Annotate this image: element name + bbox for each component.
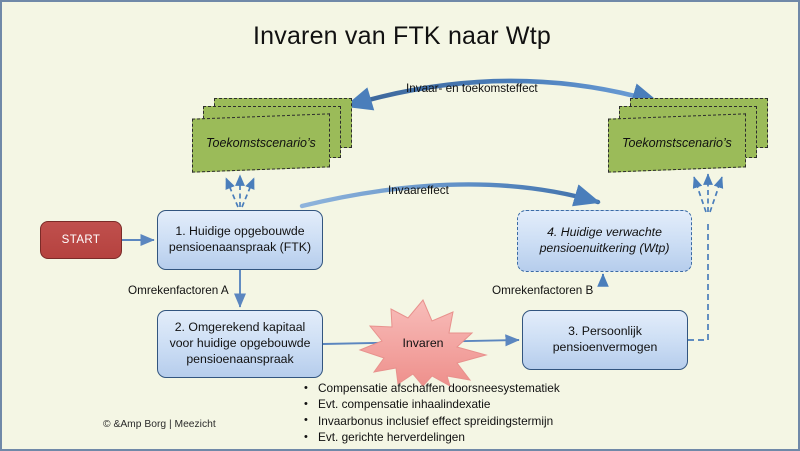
invaren-burst[interactable]: Invaren — [360, 300, 486, 386]
process-box-2-line2: voor huidige opgebouwde — [170, 336, 311, 350]
diagram-canvas: Invaren van FTK naar Wtp Toekomstscenari… — [0, 0, 800, 451]
page-title: Invaren van FTK naar Wtp — [2, 22, 800, 51]
footer-credit: © &Amp Borg | Meezicht — [103, 419, 216, 430]
label-omrekenfactoren-a: Omrekenfactoren A — [128, 284, 229, 297]
scenario-stack-right[interactable]: Toekomstscenario’s — [608, 98, 768, 170]
start-label: START — [62, 234, 101, 246]
process-box-2-line1: 2. Omgerekend kapitaal — [175, 320, 306, 334]
label-invaareffect: Invaareffect — [388, 184, 449, 197]
notes-bullet-list: Compensatie afschaffen doorsneesystemati… — [290, 380, 560, 446]
process-box-1[interactable]: 1. Huidige opgebouwde pensioenaanspraak … — [157, 210, 323, 270]
process-box-2-line3: pensioenaanspraak — [186, 352, 293, 366]
list-item: Invaarbonus inclusief effect spreidingst… — [304, 413, 560, 429]
fan-arrows-box1-to-scenarios — [226, 175, 254, 207]
process-box-3-line1: 3. Persoonlijk — [568, 324, 642, 338]
label-invaar-en-toekomsteffect: Invaar- en toekomsteffect — [406, 82, 538, 95]
list-item: Evt. compensatie inhaalindexatie — [304, 396, 560, 412]
process-box-1-line2: pensioenaanspraak (FTK) — [169, 240, 311, 254]
process-box-1-line1: 1. Huidige opgebouwde — [175, 224, 304, 238]
start-node[interactable]: START — [40, 221, 122, 259]
process-box-4-line2: pensioenuitkering (Wtp) — [540, 241, 670, 255]
scenario-sheet-front: Toekomstscenario’s — [192, 113, 330, 172]
process-box-4-label: 4. Huidige verwachte pensioenuitkering (… — [540, 225, 670, 257]
process-box-3-label: 3. Persoonlijk pensioenvermogen — [553, 324, 658, 356]
list-item: Compensatie afschaffen doorsneesystemati… — [304, 380, 560, 396]
invaren-burst-label: Invaren — [360, 336, 486, 350]
process-box-2[interactable]: 2. Omgerekend kapitaal voor huidige opge… — [157, 310, 323, 378]
connector-invaareffect — [302, 184, 598, 206]
scenario-label-right: Toekomstscenario’s — [622, 136, 732, 150]
process-box-4[interactable]: 4. Huidige verwachte pensioenuitkering (… — [517, 210, 692, 272]
scenario-label-left: Toekomstscenario’s — [206, 136, 316, 150]
process-box-4-line1: 4. Huidige verwachte — [547, 225, 662, 239]
scenario-sheet-front: Toekomstscenario’s — [608, 113, 746, 172]
list-item: Evt. gerichte herverdelingen — [304, 429, 560, 445]
fan-arrows-right-to-scenarios — [694, 174, 722, 212]
process-box-2-label: 2. Omgerekend kapitaal voor huidige opge… — [170, 320, 311, 368]
process-box-3-line2: pensioenvermogen — [553, 340, 658, 354]
scenario-stack-left[interactable]: Toekomstscenario’s — [192, 98, 352, 170]
process-box-3[interactable]: 3. Persoonlijk pensioenvermogen — [522, 310, 688, 370]
process-box-1-label: 1. Huidige opgebouwde pensioenaanspraak … — [169, 224, 311, 256]
label-omrekenfactoren-b: Omrekenfactoren B — [492, 284, 593, 297]
